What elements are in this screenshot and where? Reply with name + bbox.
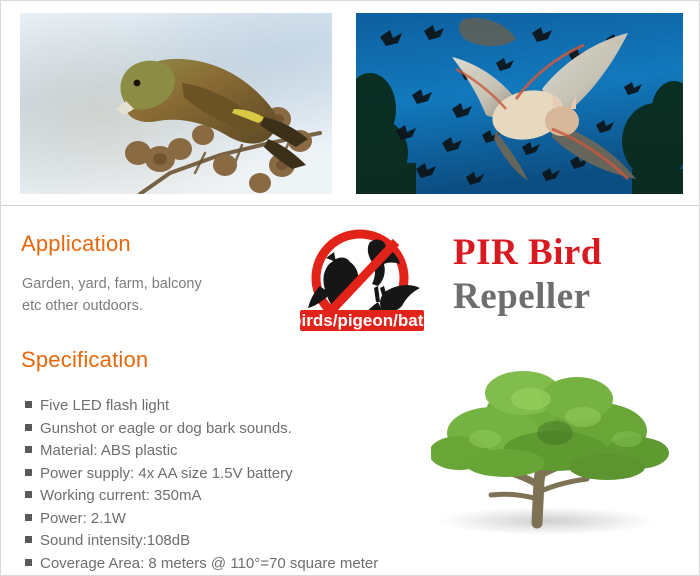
list-item: Material: ABS plastic [25,440,378,463]
logo-banner-text: birds/pigeon/bats [292,311,432,330]
bullet-square-icon [25,536,32,543]
list-item: Gunshot or eagle or dog bark sounds. [25,418,378,441]
list-item: Five LED flash light [25,395,378,418]
content-section: Application Garden, yard, farm, balcony … [1,207,700,576]
green-tree-icon [431,359,693,559]
spec-text: Five LED flash light [40,397,169,414]
spec-text: Material: ABS plastic [40,442,178,459]
prohibition-sign-icon: birds/pigeon/bats [292,226,432,344]
bullet-square-icon [25,491,32,498]
list-item: Working current: 350mA [25,485,378,508]
bullet-square-icon [25,559,32,566]
no-birds-prohibition-logo: birds/pigeon/bats [292,226,432,344]
photo-bats [356,13,683,194]
spec-text: Power: 2.1W [40,510,126,527]
spec-text: Working current: 350mA [40,487,201,504]
list-item: Power supply: 4x AA size 1.5V battery [25,463,378,486]
application-heading: Application [21,231,131,257]
specification-list: Five LED flash light Gunshot or eagle or… [25,395,378,575]
photo-greenfinch [20,13,332,194]
bullet-square-icon [25,514,32,521]
list-item: Power: 2.1W [25,508,378,531]
product-title-line-2: Repeller [453,275,693,319]
product-info-page: Application Garden, yard, farm, balcony … [0,0,700,576]
product-title: PIR Bird Repeller [453,231,693,319]
bullet-square-icon [25,469,32,476]
spec-text: Coverage Area: 8 meters @ 110°=70 square… [40,555,378,572]
spec-text: Gunshot or eagle or dog bark sounds. [40,420,292,437]
spec-text: Power supply: 4x AA size 1.5V battery [40,465,293,482]
bullet-square-icon [25,424,32,431]
photo-band [1,1,700,206]
product-title-line-1: PIR Bird [453,231,693,275]
list-item: Coverage Area: 8 meters @ 110°=70 square… [25,553,378,576]
tree-illustration [431,359,693,559]
bullet-square-icon [25,401,32,408]
application-body-text: Garden, yard, farm, balcony etc other ou… [22,273,222,317]
list-item: Sound intensity:108dB [25,530,378,553]
bats-illustration [356,13,683,194]
greenfinch-illustration [20,13,332,194]
specification-heading: Specification [21,347,148,373]
spec-text: Sound intensity:108dB [40,532,190,549]
bullet-square-icon [25,446,32,453]
